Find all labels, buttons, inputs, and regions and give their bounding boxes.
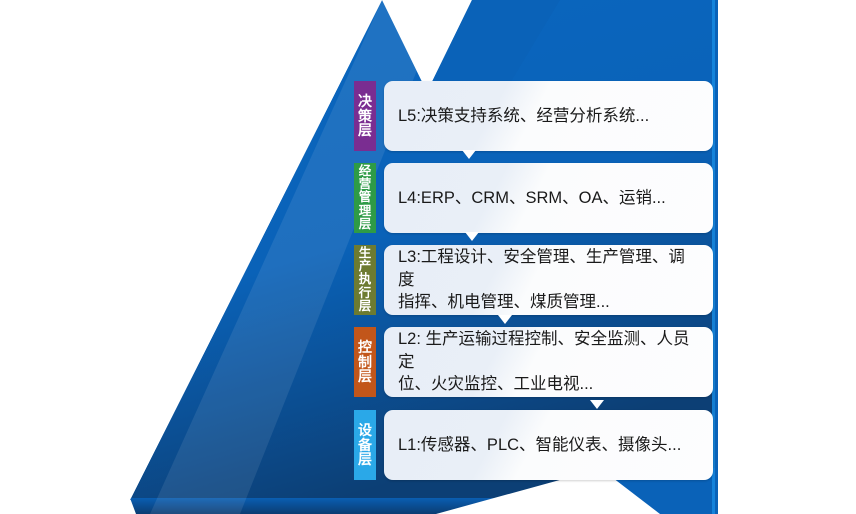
layer-row-l2[interactable]: 控 制 层 L2: 生产运输过程控制、安全监测、人员定 位、火灾监控、工业电视.… [354,327,713,397]
layer-text-l3-line1: L3:工程设计、安全管理、生产管理、调度 [398,246,699,292]
layer-card-l3[interactable]: L3:工程设计、安全管理、生产管理、调度 指挥、机电管理、煤质管理... [384,245,713,315]
badge-char: 层 [358,369,372,384]
triangle-down-icon-3 [498,315,512,324]
badge-char: 行 [359,287,372,300]
diagram-canvas: 决 策 层 L5:决策支持系统、经营分析系统... 经 营 管 理 层 L4:E… [0,0,856,514]
layer-card-l5[interactable]: L5:决策支持系统、经营分析系统... [384,81,713,151]
layer-text-l3-line2: 指挥、机电管理、煤质管理... [398,291,610,314]
badge-char: 执 [359,273,372,286]
layer-row-l4[interactable]: 经 营 管 理 层 L4:ERP、CRM、SRM、OA、运销... [354,163,713,233]
layer-card-l1[interactable]: L1:传感器、PLC、智能仪表、摄像头... [384,410,713,480]
layer-badge-production-execution: 生 产 执 行 层 [354,245,376,315]
layer-badge-decision: 决 策 层 [354,81,376,151]
badge-char: 备 [358,438,372,453]
badge-char: 设 [358,423,372,438]
badge-char: 层 [359,218,372,231]
badge-char: 策 [358,109,372,124]
layer-card-l2[interactable]: L2: 生产运输过程控制、安全监测、人员定 位、火灾监控、工业电视... [384,327,713,397]
badge-char: 层 [358,123,372,138]
triangle-down-icon-2 [465,232,479,241]
layer-badge-control: 控 制 层 [354,327,376,397]
layer-badge-business-management: 经 营 管 理 层 [354,163,376,233]
badge-char: 决 [358,94,372,109]
triangle-down-icon-1 [462,150,476,159]
layer-row-l3[interactable]: 生 产 执 行 层 L3:工程设计、安全管理、生产管理、调度 指挥、机电管理、煤… [354,245,713,315]
badge-char: 理 [359,205,372,218]
badge-char: 管 [359,191,372,204]
badge-char: 制 [358,355,372,370]
layer-text-l5: L5:决策支持系统、经营分析系统... [398,105,649,128]
layer-badge-equipment: 设 备 层 [354,410,376,480]
badge-char: 层 [358,452,372,467]
layer-card-l4[interactable]: L4:ERP、CRM、SRM、OA、运销... [384,163,713,233]
layer-row-l5[interactable]: 决 策 层 L5:决策支持系统、经营分析系统... [354,81,713,151]
layer-text-l4: L4:ERP、CRM、SRM、OA、运销... [398,187,666,210]
layer-row-l1[interactable]: 设 备 层 L1:传感器、PLC、智能仪表、摄像头... [354,410,713,480]
triangle-down-icon-4 [590,400,604,409]
badge-char: 层 [359,300,372,313]
badge-char: 控 [358,340,372,355]
layer-text-l2-line2: 位、火灾监控、工业电视... [398,373,593,396]
layer-text-l2-line1: L2: 生产运输过程控制、安全监测、人员定 [398,328,699,374]
layer-text-l1: L1:传感器、PLC、智能仪表、摄像头... [398,434,681,457]
